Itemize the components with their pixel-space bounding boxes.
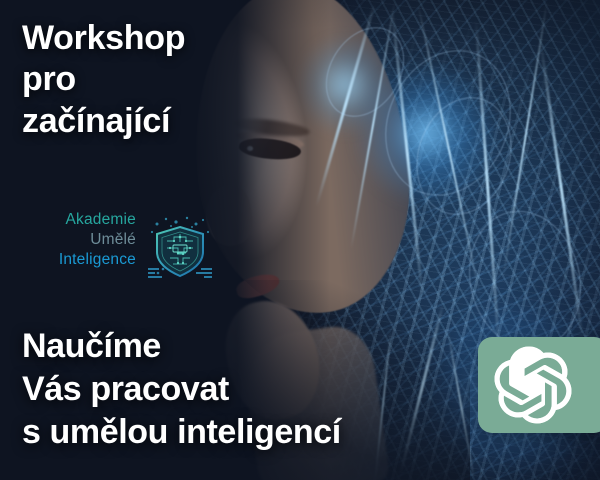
subheadline-line-3: s umělou inteligencí: [22, 411, 452, 454]
headline-line-3: začínající: [22, 101, 322, 142]
brand-logo-line-3: Inteligence: [14, 250, 136, 270]
subheadline: Naučíme Vás pracovat s umělou inteligenc…: [22, 325, 452, 455]
headline-line-1: Workshop: [22, 18, 322, 59]
subheadline-line-1: Naučíme: [22, 325, 452, 368]
brand-logo-wordmark: Akademie Umělé Inteligence: [14, 210, 136, 270]
openai-badge: [478, 337, 600, 433]
openai-logo-icon: [491, 343, 575, 427]
headline-line-2: pro: [22, 59, 322, 100]
headline: Workshop pro začínající: [22, 18, 322, 142]
poster-canvas: Workshop pro začínající Akademie Umělé I…: [0, 0, 600, 480]
subheadline-line-2: Vás pracovat: [22, 368, 452, 411]
brand-logo-line-2: Umělé: [14, 230, 136, 250]
brand-logo-line-1: Akademie: [14, 210, 136, 230]
brand-logo: Akademie Umělé Inteligence: [14, 208, 214, 286]
circuit-shield-icon: [146, 212, 214, 282]
